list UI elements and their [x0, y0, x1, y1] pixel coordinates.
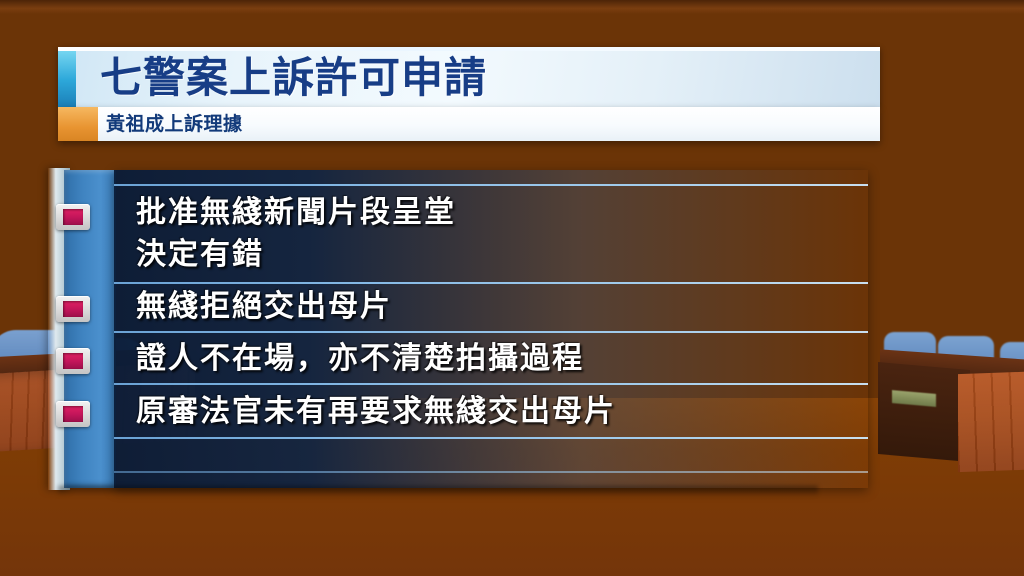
row-separator [114, 383, 868, 385]
bullet-panel: 批准無綫新聞片段呈堂 決定有錯 無綫拒絕交出母片 證人不在場，亦不清楚拍攝過程 … [48, 168, 868, 490]
title-accent-bar [58, 47, 76, 107]
row-separator [114, 331, 868, 333]
row-separator [114, 471, 868, 473]
bullet-item-text: 證人不在場，亦不清楚拍攝過程 [136, 338, 584, 380]
bullet-marker-icon [56, 204, 90, 230]
bullet-inner-square-icon [63, 209, 83, 225]
headline-block: 七警案上訴許可申請 黃祖成上訴理據 [58, 47, 880, 157]
row-separator [114, 437, 868, 439]
bullet-marker-icon [56, 401, 90, 427]
bench-right-side [878, 362, 970, 462]
bullet-item-text: 無綫拒絕交出母片 [136, 286, 392, 328]
panel-bottom-shadow [58, 486, 818, 496]
bullet-inner-square-icon [63, 301, 83, 317]
bullet-item-text: 原審法官未有再要求無綫交出母片 [136, 391, 616, 433]
bullet-inner-square-icon [63, 353, 83, 369]
page-title: 七警案上訴許可申請 [100, 49, 487, 107]
bullet-item-text: 批准無綫新聞片段呈堂 決定有錯 [136, 192, 456, 276]
bullet-marker-icon [56, 348, 90, 374]
row-separator [114, 282, 868, 284]
bullet-inner-square-icon [63, 406, 83, 422]
row-separator [114, 184, 868, 186]
subtitle-accent-block [58, 107, 98, 141]
bullet-marker-icon [56, 296, 90, 322]
wall-top-shadow [0, 0, 1024, 14]
bench-right-grain [958, 370, 1024, 472]
broadcast-lower-third-graphic: 七警案上訴許可申請 黃祖成上訴理據 批准無綫新聞片段呈堂 決定有錯 無綫拒絕交出… [0, 0, 1024, 576]
subtitle-text: 黃祖成上訴理據 [106, 107, 243, 141]
